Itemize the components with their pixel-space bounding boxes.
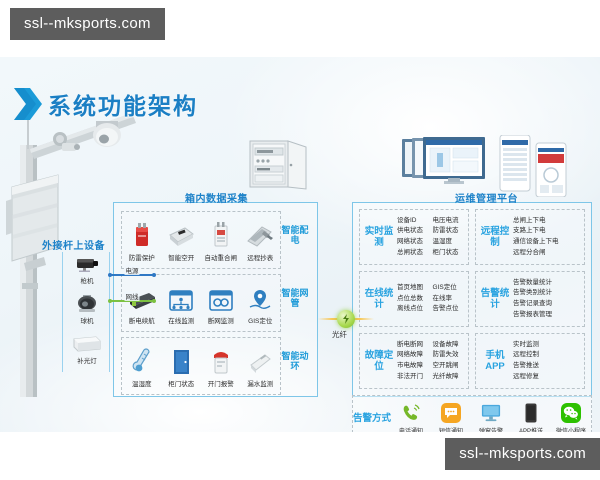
wechat-icon	[561, 403, 581, 423]
panel-item: 离线点位	[397, 304, 433, 315]
list-item-label: 在线监测	[168, 315, 194, 325]
list-item: 短信通知	[431, 403, 471, 432]
panel-item: 在线率	[433, 294, 469, 305]
list-item: 自动重合闸	[201, 212, 241, 268]
list-item: 枪机	[63, 254, 111, 285]
panel-item: 光纤故障	[433, 372, 469, 383]
panel-item: 总闸状态	[397, 248, 433, 259]
cabinet-illustration	[246, 137, 312, 193]
list-item: 远程抄表	[241, 212, 281, 268]
infographic-slide: 系统功能架构 箱内数据采集	[0, 57, 600, 432]
panel-item: 总闸上下电	[513, 216, 584, 227]
panel-item: 告警点位	[433, 304, 469, 315]
panel-column: 首页地图 点位总数 离线点位	[397, 283, 433, 315]
list-item: 弹窗告警	[471, 403, 511, 432]
panel-item: 防雷失效	[433, 350, 469, 361]
panel-column: GIS定位 在线率 告警点位	[433, 283, 469, 315]
panel-item: 断电断网	[397, 340, 433, 351]
panel-alarm-statistics: 告警统计 告警数量统计 告警类别统计 告警记录查询 告警报表管理	[475, 271, 585, 327]
list-item-label: 补光灯	[63, 355, 111, 365]
thermometer-icon	[132, 345, 152, 375]
panel-column: 实时监测 远程控制 告警推送 远程修复	[513, 340, 584, 383]
chevron-right-icon	[14, 84, 42, 124]
panel-remote-control: 远程控制 总闸上下电 支路上下电 通信设备上下电 远程分合闸	[475, 209, 585, 265]
list-item: 微信小程序	[551, 403, 591, 432]
list-item: 断网监测	[201, 275, 241, 331]
panel-item: 点位总数	[397, 294, 433, 305]
panel-title: 在线统计	[364, 288, 394, 311]
panel-item: 告警推送	[513, 361, 584, 372]
list-item-label: 开门报警	[208, 378, 234, 388]
dome-camera-icon	[63, 294, 111, 314]
panel-item: 告警类别统计	[513, 288, 584, 299]
list-item: 电话通知	[391, 403, 431, 432]
door-alarm-icon	[211, 345, 231, 375]
list-item: 温湿度	[122, 338, 162, 394]
tag-smart-network-management: 智能网管	[279, 288, 311, 309]
list-item-label: APP推送	[519, 426, 543, 432]
panel-title: 手机APP	[480, 350, 510, 373]
list-item-label: 温湿度	[132, 378, 152, 388]
list-item: 补光灯	[63, 334, 111, 365]
smart-environment-row: 温湿度 柜门状态	[121, 337, 281, 395]
fill-light-icon	[63, 334, 111, 354]
panel-item: 实时监测	[513, 340, 584, 351]
panel-column: 电压电流 防雷状态 温湿度 柜门状态	[433, 216, 469, 259]
panel-item: 设备ID	[397, 216, 433, 227]
panel-column: 断电断网 网络故障 市电故障 非法开门	[397, 340, 433, 383]
watermark-bottom: ssl--mksports.com	[445, 438, 600, 470]
online-monitor-icon	[169, 282, 193, 312]
list-item-label: 断网监测	[208, 315, 234, 325]
connector-network: 网线	[110, 300, 154, 302]
panel-column: 告警数量统计 告警类别统计 告警记录查询 告警报表管理	[513, 278, 584, 321]
alarm-methods-bar: 告警方式 电话通知	[352, 395, 592, 432]
list-item: GIS定位	[241, 275, 281, 331]
panel-title: 故障定位	[364, 350, 394, 373]
page-title-group: 系统功能架构	[14, 84, 198, 124]
panel-item: 非法开门	[397, 372, 433, 383]
panel-item: 网络状态	[397, 237, 433, 248]
panel-column: 总闸上下电 支路上下电 通信设备上下电 远程分合闸	[513, 216, 584, 259]
panel-item: 市电故障	[397, 361, 433, 372]
outdoor-device-list: 枪机 球机 补光灯	[62, 252, 110, 372]
panel-item: 远程分合闸	[513, 248, 584, 259]
bullet-camera-icon	[63, 254, 111, 274]
list-item-label: GIS定位	[248, 315, 272, 325]
panel-item: 电压电流	[433, 216, 469, 227]
watermark-top: ssl--mksports.com	[10, 8, 165, 40]
tag-smart-power-distribution: 智能配电	[279, 225, 311, 246]
auto-recloser-icon	[211, 219, 231, 249]
page-title: 系统功能架构	[48, 87, 198, 121]
cabinet-door-icon	[171, 345, 191, 375]
list-item-label: 短信通知	[439, 426, 463, 432]
list-item-label: 微信小程序	[556, 426, 586, 432]
list-item-label: 断电续航	[129, 315, 155, 325]
network-link-icon	[209, 282, 233, 312]
list-item-label: 电话通知	[399, 426, 423, 432]
label-om-platform: 运维管理平台	[455, 190, 518, 205]
label-outdoor-pole-devices: 外接杆上设备	[42, 237, 105, 252]
panel-column: 设备ID 供电状态 网络状态 总闸状态	[397, 216, 433, 259]
panel-item: 告警报表管理	[513, 310, 584, 321]
platform-illustration	[396, 135, 592, 197]
list-item: 断电续航	[122, 275, 162, 331]
list-item: APP推送	[511, 403, 551, 432]
panel-item: 远程修复	[513, 372, 584, 383]
mobile-push-icon	[521, 403, 541, 423]
panel-item: 通信设备上下电	[513, 237, 584, 248]
panel-fault-location: 故障定位 断电断网 网络故障 市电故障 非法开门 设备故障 防雷失效 空开跳闸 …	[359, 333, 469, 389]
list-item-label: 柜门状态	[168, 378, 194, 388]
panel-mobile-app: 手机APP 实时监测 远程控制 告警推送 远程修复	[475, 333, 585, 389]
monitor-popup-icon	[481, 403, 501, 423]
panel-item: 首页地图	[397, 283, 433, 294]
panel-title: 远程控制	[480, 226, 510, 249]
list-item-label: 枪机	[63, 275, 111, 285]
smart-network-management-row: 断电续航 在线监测	[121, 274, 281, 332]
label-box-data-collection: 箱内数据采集	[185, 190, 248, 205]
surge-protector-icon	[132, 219, 152, 249]
water-leak-icon	[247, 345, 273, 375]
panel-item: 网络故障	[397, 350, 433, 361]
panel-item: 设备故障	[433, 340, 469, 351]
panel-item: 柜门状态	[433, 248, 469, 259]
list-item: 柜门状态	[162, 338, 202, 394]
list-item-label: 防雷保护	[129, 252, 155, 262]
gis-pin-icon	[248, 282, 272, 312]
list-item: 在线监测	[162, 275, 202, 331]
list-item: 球机	[63, 294, 111, 325]
panel-item: 支路上下电	[513, 226, 584, 237]
smart-breaker-icon	[167, 219, 195, 249]
list-item: 防雷保护	[122, 212, 162, 268]
list-item-label: 漏水监测	[247, 378, 273, 388]
smart-power-distribution-row: 防雷保护 智能空开	[121, 211, 281, 269]
panel-item: GIS定位	[433, 283, 469, 294]
panel-online-statistics: 在线统计 首页地图 点位总数 离线点位 GIS定位 在线率 告警点位	[359, 271, 469, 327]
list-item-label: 智能空开	[168, 252, 194, 262]
panel-item: 空开跳闸	[433, 361, 469, 372]
panel-item: 供电状态	[397, 226, 433, 237]
panel-item: 远程控制	[513, 350, 584, 361]
list-item: 智能空开	[162, 212, 202, 268]
panel-item: 告警数量统计	[513, 278, 584, 289]
list-item-label: 远程抄表	[247, 252, 273, 262]
panel-item: 告警记录查询	[513, 299, 584, 310]
list-item: 开门报警	[201, 338, 241, 394]
remote-meter-icon	[246, 219, 274, 249]
panel-realtime-monitoring: 实时监测 设备ID 供电状态 网络状态 总闸状态 电压电流 防雷状态 温湿度 柜…	[359, 209, 469, 265]
fiber-label: 光纤	[332, 329, 347, 340]
fiber-connector	[318, 310, 374, 328]
list-item: 漏水监测	[241, 338, 281, 394]
panel-title: 告警统计	[480, 288, 510, 311]
list-item-label: 球机	[63, 315, 111, 325]
connector-power: 电源	[110, 274, 154, 276]
list-item-label: 自动重合闸	[205, 252, 238, 262]
alarm-methods-title: 告警方式	[353, 413, 391, 424]
list-item-label: 弹窗告警	[479, 426, 503, 432]
phone-call-icon	[401, 403, 421, 423]
om-platform-panel: 实时监测 设备ID 供电状态 网络状态 总闸状态 电压电流 防雷状态 温湿度 柜…	[352, 202, 592, 397]
tag-smart-environment: 智能动环	[279, 351, 311, 372]
panel-column: 设备故障 防雷失效 空开跳闸 光纤故障	[433, 340, 469, 383]
sms-bubble-icon	[441, 403, 461, 423]
fiber-node-icon	[337, 310, 355, 328]
connector-network-label: 网线	[125, 291, 140, 301]
panel-item: 温湿度	[433, 237, 469, 248]
connector-power-label: 电源	[125, 265, 140, 275]
panel-item: 防雷状态	[433, 226, 469, 237]
panel-title: 实时监测	[364, 226, 394, 249]
